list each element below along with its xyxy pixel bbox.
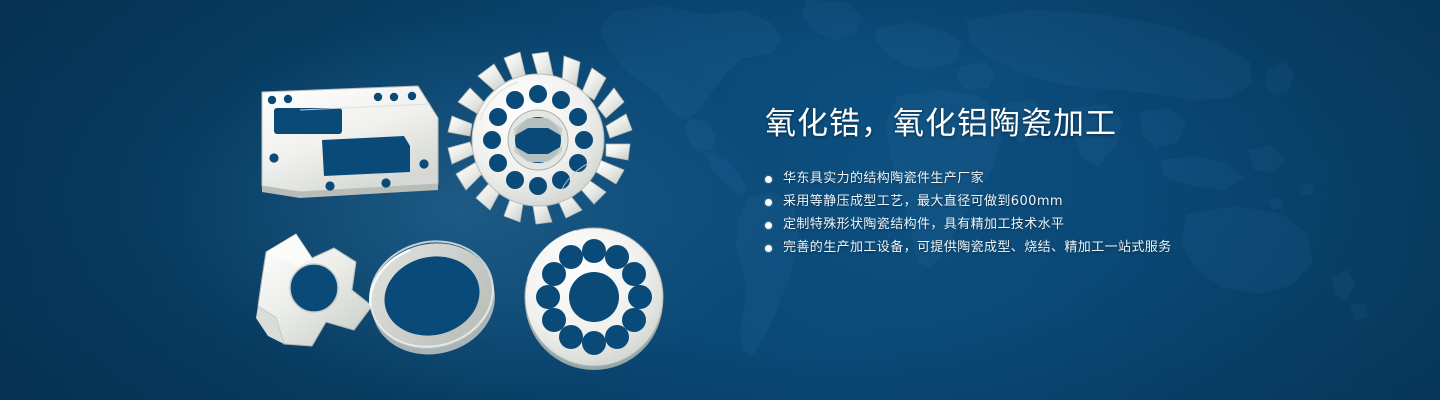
bullet-dot-icon xyxy=(765,176,772,183)
ceramic-impeller xyxy=(448,52,632,224)
feature-text: 采用等静压成型工艺，最大直径可做到600mm xyxy=(783,191,1063,213)
banner-copy: 氧化锆，氧化铝陶瓷加工 华东具实力的结构陶瓷件生产厂家 采用等静压成型工艺，最大… xyxy=(765,104,1385,275)
feature-text: 定制特殊形状陶瓷结构件，具有精加工技术水平 xyxy=(783,214,1064,236)
ceramic-plate xyxy=(262,86,438,198)
feature-text: 华东具实力的结构陶瓷件生产厂家 xyxy=(783,168,984,190)
list-item: 华东具实力的结构陶瓷件生产厂家 xyxy=(765,168,1385,190)
bullet-dot-icon xyxy=(765,199,772,206)
ceramic-valve-plate xyxy=(525,228,663,370)
list-item: 定制特殊形状陶瓷结构件，具有精加工技术水平 xyxy=(765,214,1385,236)
page-title: 氧化锆，氧化铝陶瓷加工 xyxy=(765,104,1385,144)
list-item: 完善的生产加工设备，可提供陶瓷成型、烧结、精加工一站式服务 xyxy=(765,237,1385,259)
list-item: 采用等静压成型工艺，最大直径可做到600mm xyxy=(765,191,1385,213)
hero-banner: 氧化锆，氧化铝陶瓷加工 华东具实力的结构陶瓷件生产厂家 采用等静压成型工艺，最大… xyxy=(0,0,1440,400)
ceramic-ring xyxy=(359,229,506,368)
ceramic-cross-blade xyxy=(256,234,372,346)
bullet-dot-icon xyxy=(765,222,772,229)
feature-list: 华东具实力的结构陶瓷件生产厂家 采用等静压成型工艺，最大直径可做到600mm 定… xyxy=(765,168,1385,259)
feature-text: 完善的生产加工设备，可提供陶瓷成型、烧结、精加工一站式服务 xyxy=(783,237,1172,259)
ceramic-products-image xyxy=(0,0,720,400)
bullet-dot-icon xyxy=(765,245,772,252)
